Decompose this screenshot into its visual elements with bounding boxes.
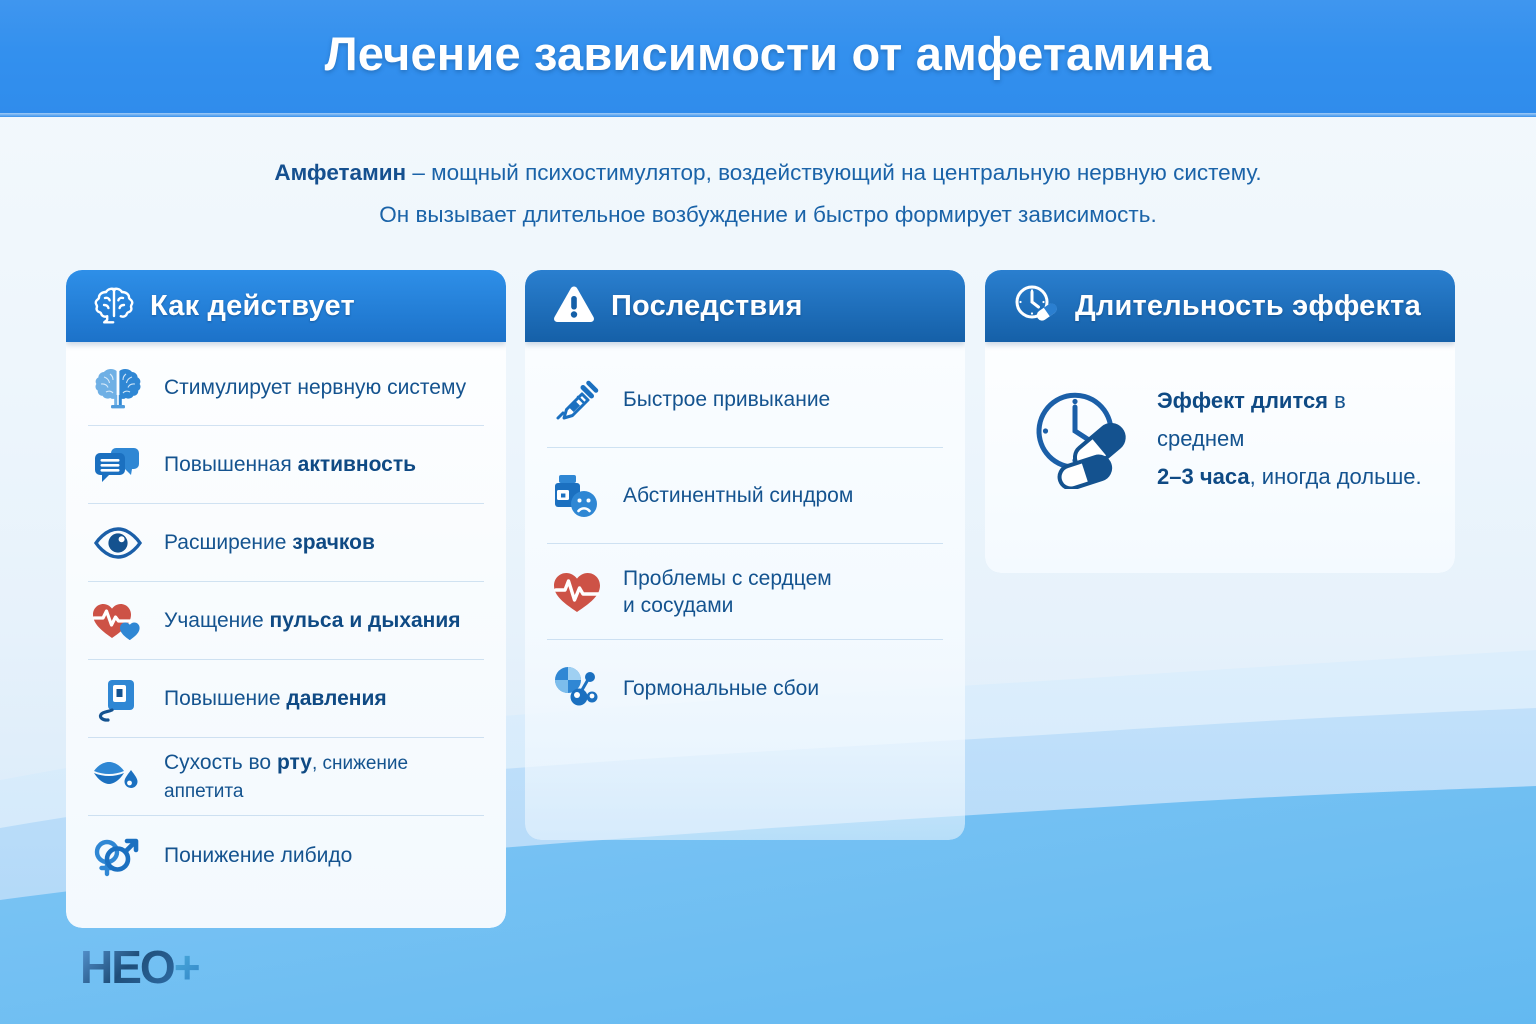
list-item-label: Быстрое привыкание [623,386,830,413]
pill-bottle-sad-icon [547,467,607,525]
card-how-header: Как действует [66,270,506,342]
list-item-emphasis: пульса и дыхания [270,609,461,632]
brain-icon [92,284,136,329]
list-item-label: Учащение пульса и дыхания [164,607,461,634]
intro-paragraph: Амфетамин – мощный психостимулятор, возд… [128,152,1408,236]
list-item-text: Сухость во [164,751,277,774]
list-item: Сухость во рту, снижение аппетита [88,738,484,816]
card-how-list: Стимулирует нервную систему [66,342,506,894]
list-item-text: Понижение либидо [164,844,352,867]
intro-keyword: Амфетамин [274,160,406,185]
duration-line-1: Эффект длится в среднем [1157,382,1425,458]
card-how-it-works: Как действует [66,270,506,928]
list-item-label: Повышенная активность [164,451,416,478]
list-item-emphasis: давления [286,687,386,710]
card-consequences: Последствия [525,270,965,840]
eye-icon [88,514,148,572]
brain-icon [88,359,148,417]
card-duration: Длительность эффекта [985,270,1455,573]
list-item-label: Расширение зрачков [164,529,375,556]
duration-content: Эффект длится в среднем 2–3 часа, иногда… [985,342,1455,496]
heartbeat-icon [88,592,148,650]
card-how-title: Как действует [150,290,355,323]
clock-pills-icon [1011,282,1061,331]
card-consequences-list: Быстрое привыкание [525,342,965,736]
warning-triangle-icon [551,283,597,330]
duration-text: Эффект длится в среднем 2–3 часа, иногда… [1157,382,1425,496]
list-item-label: Сухость во рту, снижение аппетита [164,749,484,805]
card-how-body: Стимулирует нервную систему [66,342,506,928]
list-item-label: Гормональные сбои [623,675,819,702]
list-item-label: Повышение давления [164,685,387,712]
card-consequences-title: Последствия [611,290,803,323]
speech-bubble-icon [88,436,148,494]
list-item: Абстинентный синдром [547,448,943,544]
card-duration-body: Эффект длится в среднем 2–3 часа, иногда… [985,342,1455,573]
duration-line-1-bold: Эффект длится [1157,388,1328,413]
list-item-emphasis: зрачков [292,531,375,554]
duration-value: 2–3 часа [1157,464,1250,489]
list-item-label: Понижение либидо [164,842,352,869]
dry-mouth-icon [88,748,148,806]
list-item-text: Повышение [164,687,286,710]
list-item-emphasis: рту [277,751,312,774]
card-duration-title: Длительность эффекта [1075,290,1421,323]
syringe-icon [547,371,607,429]
list-item-text: Расширение [164,531,292,554]
list-item: Расширение зрачков [88,504,484,582]
brand-logo-text: HEO [80,941,174,993]
list-item-label: Стимулирует нервную систему [164,374,466,401]
brand-logo-plus: + [174,941,199,993]
list-item-text: Стимулирует нервную систему [164,376,466,399]
intro-line-1: Амфетамин – мощный психостимулятор, возд… [128,152,1408,194]
card-duration-header: Длительность эффекта [985,270,1455,342]
infographic-canvas: Лечение зависимости от амфетамина Амфета… [0,0,1536,1024]
list-item: Проблемы с сердцем и сосудами [547,544,943,640]
list-item-label: Проблемы с сердцем и сосудами [623,565,832,619]
list-item: Повышение давления [88,660,484,738]
list-item: Повышенная активность [88,426,484,504]
blood-pressure-icon [88,670,148,728]
card-consequences-header: Последствия [525,270,965,342]
intro-line-2: Он вызывает длительное возбуждение и быс… [128,194,1408,236]
list-item-label: Абстинентный синдром [623,482,853,509]
list-item: Учащение пульса и дыхания [88,582,484,660]
clock-capsules-icon [1029,385,1137,494]
list-item-text: Учащение [164,609,270,632]
gender-symbols-icon [88,826,148,884]
intro-line-1-rest: – мощный психостимулятор, воздействующий… [406,160,1262,185]
duration-line-2-rest: , иногда дольше. [1250,464,1422,489]
brand-logo: HEO+ [80,940,199,994]
list-item: Стимулирует нервную систему [88,350,484,426]
list-item: Быстрое привыкание [547,352,943,448]
list-item: Понижение либидо [88,816,484,894]
hormone-molecule-icon [547,659,607,717]
duration-line-2: 2–3 часа, иногда дольше. [1157,458,1425,496]
heart-pulse-icon [547,563,607,621]
list-item: Гормональные сбои [547,640,943,736]
card-consequences-body: Быстрое привыкание [525,342,965,840]
list-item-emphasis: активность [298,453,416,476]
page-title: Лечение зависимости от амфетамина [0,26,1536,81]
list-item-text: Повышенная [164,453,298,476]
